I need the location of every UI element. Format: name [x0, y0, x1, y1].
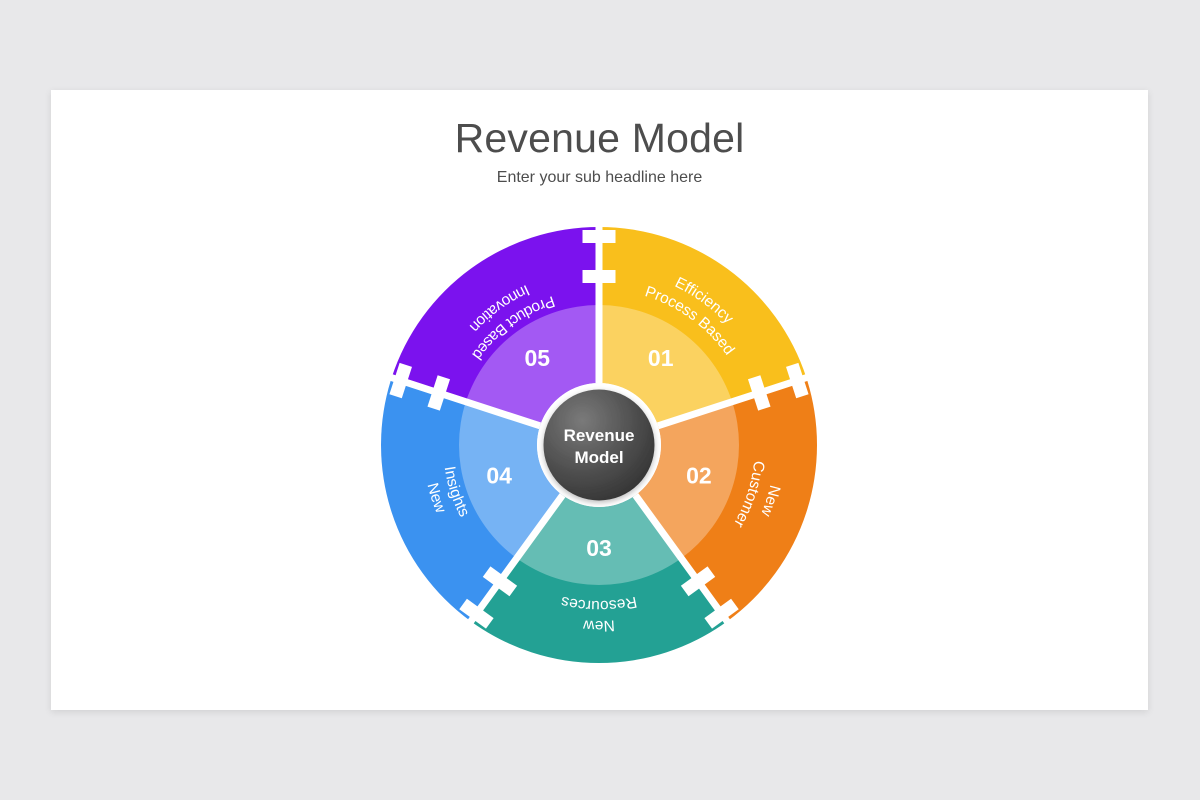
hub-label-line2: Model [574, 448, 623, 467]
page-subtitle: Enter your sub headline here [51, 169, 1148, 187]
segment-number-05: 05 [524, 345, 550, 371]
hub-circle[interactable] [544, 390, 655, 501]
segment-number-01: 01 [648, 345, 674, 371]
wheel-svg: 0102030405EfficiencyProcess BasedNewCust… [359, 205, 839, 685]
segment-number-03: 03 [586, 535, 612, 561]
revenue-model-wheel: 0102030405EfficiencyProcess BasedNewCust… [359, 205, 839, 685]
segment-label-03-line1: New [582, 616, 615, 634]
segment-number-04: 04 [486, 463, 512, 489]
segment-number-02: 02 [686, 463, 712, 489]
page-title: Revenue Model [51, 115, 1148, 162]
slide-card: Revenue Model Enter your sub headline he… [51, 90, 1148, 710]
hub-label-line1: Revenue [564, 426, 635, 445]
